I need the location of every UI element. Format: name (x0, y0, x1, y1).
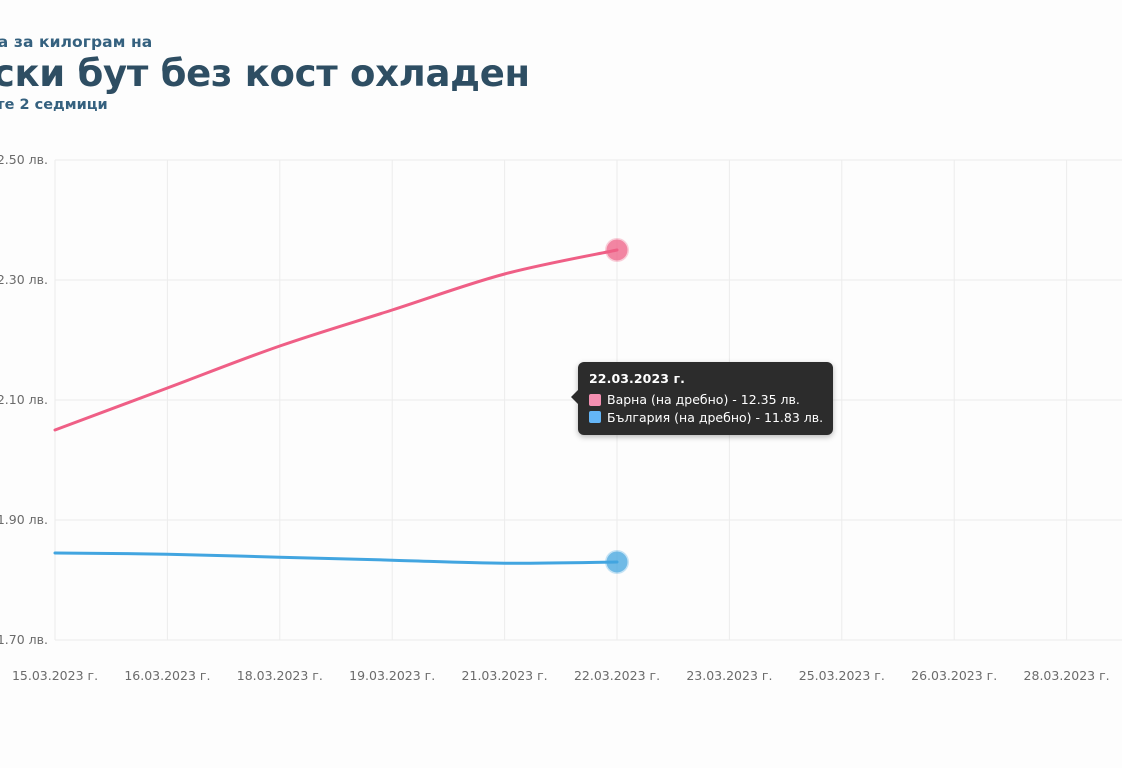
x-axis-tick-label: 18.03.2023 г. (225, 668, 335, 683)
tooltip-swatch-icon (589, 411, 601, 423)
x-axis-tick-label: 15.03.2023 г. (0, 668, 110, 683)
series-point-marker[interactable] (608, 241, 627, 260)
page-title: Свински бут без кост охладен (0, 52, 530, 95)
x-axis-tick-label: 22.03.2023 г. (562, 668, 672, 683)
tooltip-date: 22.03.2023 г. (589, 370, 823, 388)
x-axis-tick-label: 26.03.2023 г. (899, 668, 1009, 683)
series-line (55, 250, 617, 430)
x-axis-tick-label: 16.03.2023 г. (112, 668, 222, 683)
y-axis-tick-label: 11.70 лв. (0, 632, 48, 647)
x-axis-tick-label: 21.03.2023 г. (450, 668, 560, 683)
tooltip-swatch-icon (589, 394, 601, 406)
x-axis-tick-label: 23.03.2023 г. (674, 668, 784, 683)
chart-series-lines (55, 250, 617, 563)
x-axis-tick-label: 28.03.2023 г. (1012, 668, 1122, 683)
header-subtitle-bottom: за последните 2 седмици (0, 97, 108, 113)
chart-plot (0, 140, 1122, 740)
y-axis-tick-label: 12.30 лв. (0, 272, 48, 287)
y-axis-tick-label: 12.50 лв. (0, 152, 48, 167)
series-point-marker[interactable] (608, 553, 627, 572)
y-axis-tick-label: 11.90 лв. (0, 512, 48, 527)
x-axis-tick-label: 25.03.2023 г. (787, 668, 897, 683)
tooltip-row: Варна (на дребно) - 12.35 лв. (589, 391, 823, 409)
chart-page: Средна цена за килограм на Свински бут б… (0, 0, 1122, 768)
tooltip-arrow-icon (571, 389, 579, 405)
y-axis-tick-label: 12.10 лв. (0, 392, 48, 407)
series-line (55, 553, 617, 563)
x-axis-tick-label: 19.03.2023 г. (337, 668, 447, 683)
tooltip-row: България (на дребно) - 11.83 лв. (589, 409, 823, 427)
chart-tooltip: 22.03.2023 г. Варна (на дребно) - 12.35 … (578, 362, 833, 435)
tooltip-rows: Варна (на дребно) - 12.35 лв.България (н… (589, 391, 823, 427)
header-subtitle-top: Средна цена за килограм на (0, 33, 152, 51)
tooltip-row-label: Варна (на дребно) - 12.35 лв. (607, 391, 800, 409)
tooltip-row-label: България (на дребно) - 11.83 лв. (607, 409, 823, 427)
chart-area[interactable]: 12.50 лв.12.30 лв.12.10 лв.11.90 лв.11.7… (0, 140, 1122, 740)
